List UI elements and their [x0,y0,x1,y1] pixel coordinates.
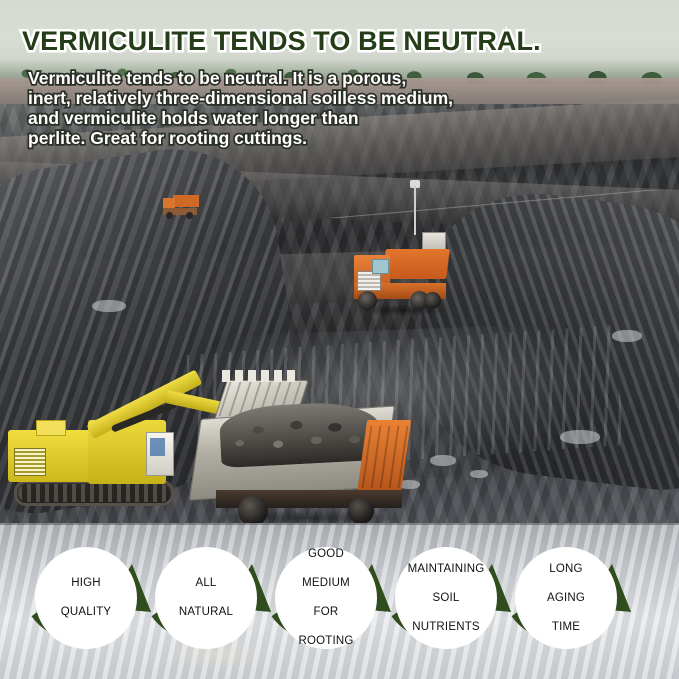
rubble-patch [430,455,456,466]
description-line: and vermiculite holds water longer than [28,108,628,128]
feature-circle-label: HIGH QUALITY [49,576,124,620]
feature-line: NATURAL [173,605,239,620]
haul-truck-dump-bed [382,249,450,279]
product-infographic-poster: VERMICULITE TENDS TO BE NEUTRAL. Vermicu… [0,0,679,679]
feature-line: ALL [173,576,239,591]
dump-truck-wheel [348,498,374,523]
haul-truck-wheel [424,292,441,309]
description-line: inert, relatively three-dimensional soil… [28,88,628,108]
feature-line: TIME [541,620,591,635]
feature-circle-label: GOOD MEDIUM FOR ROOTING [286,547,365,649]
haul-truck-window [372,259,389,274]
feature-line: FOR [292,605,359,620]
rubble-patch [92,300,126,312]
feature-circle-label: LONG AGING TIME [535,562,597,635]
feature-line: MEDIUM [292,576,359,591]
feature-line: ROOTING [292,634,359,649]
feature-circle-maintaining-soil-nutrients[interactable]: MAINTAINING SOIL NUTRIENTS [395,547,497,649]
dump-truck-wheel [238,496,268,523]
description-line: perlite. Great for rooting cuttings. [28,128,628,148]
rubble-patch [612,330,642,342]
loading-dump-truck [196,398,406,523]
dump-truck-shadow [206,510,406,523]
feature-circle-label: MAINTAINING SOIL NUTRIENTS [396,562,497,635]
description-line: Vermiculite tends to be neutral. It is a… [28,68,628,88]
feature-line: NUTRIENTS [402,620,491,635]
haul-truck-wheel [358,291,377,310]
feature-line: LONG [541,562,591,577]
feature-line: GOOD [292,547,359,562]
feature-line: HIGH [55,576,118,591]
utility-pole [414,185,416,235]
overhead-wire [330,190,679,218]
distant-haul-truck [163,195,199,221]
excavator-radiator [14,448,46,476]
rubble-patch [560,430,600,444]
excavator-roof-box [36,420,66,436]
distant-truck-wheel [186,212,193,219]
page-title: VERMICULITE TENDS TO BE NEUTRAL. [22,26,642,57]
feature-line: MAINTAINING [402,562,491,577]
dump-truck-coal-load [219,400,382,468]
feature-line: AGING [541,591,591,606]
feature-line: QUALITY [55,605,118,620]
feature-circle-high-quality[interactable]: HIGH QUALITY [35,547,137,649]
feature-circle-good-medium-rooting[interactable]: GOOD MEDIUM FOR ROOTING [275,547,377,649]
feature-flow-band: HIGH QUALITY ALL NATURAL GOOD MEDIUM FOR… [0,523,679,679]
excavator-track-pads [18,484,170,502]
rubble-patch [470,470,488,478]
haul-truck-grille [357,271,381,291]
description-paragraph: Vermiculite tends to be neutral. It is a… [28,68,628,148]
distant-truck-wheel [166,212,173,219]
feature-circle-all-natural[interactable]: ALL NATURAL [155,547,257,649]
feature-circle-long-aging-time[interactable]: LONG AGING TIME [515,547,617,649]
bucket-teeth [222,370,298,382]
orange-haul-truck [352,249,448,311]
feature-circle-label: ALL NATURAL [167,576,245,620]
feature-line: SOIL [402,591,491,606]
distant-truck-bed [173,195,199,207]
